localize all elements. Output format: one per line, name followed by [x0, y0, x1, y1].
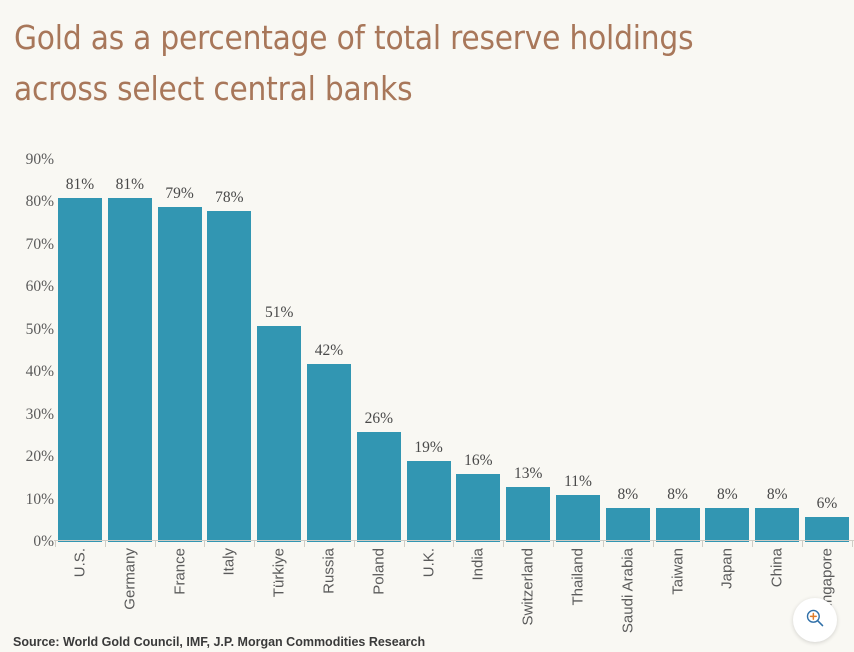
- x-axis-tick-mark: [603, 541, 604, 547]
- x-axis-tick-mark: [453, 541, 454, 547]
- x-axis-category-text: Saudi Arabia: [619, 548, 636, 633]
- bars-layer: 81%81%79%78%51%42%26%19%16%13%11%8%8%8%8…: [57, 160, 854, 542]
- magnify-plus-icon: [804, 607, 826, 634]
- bar[interactable]: [755, 508, 799, 542]
- bar-value-label: 42%: [306, 342, 352, 360]
- x-axis-category-text: France: [171, 548, 188, 595]
- bar[interactable]: [805, 517, 849, 542]
- bar[interactable]: [108, 198, 152, 542]
- bar-value-label: 81%: [107, 176, 153, 194]
- x-axis-tick-mark: [653, 541, 654, 547]
- x-axis-tick-mark: [55, 541, 56, 547]
- bar-slot: 16%: [455, 160, 505, 542]
- bar-value-label: 6%: [804, 495, 850, 513]
- bar-slot: 8%: [605, 160, 655, 542]
- bar-slot: 8%: [655, 160, 705, 542]
- bar[interactable]: [58, 198, 102, 542]
- x-axis-tick-mark: [155, 541, 156, 547]
- x-axis-category-text: Thailand: [570, 548, 587, 606]
- y-axis-tick-label: 90%: [2, 151, 54, 169]
- bar-slot: 51%: [256, 160, 306, 542]
- bar[interactable]: [357, 432, 401, 542]
- x-axis-category-label: U.S.: [57, 548, 103, 638]
- x-axis-tick-mark: [105, 541, 106, 547]
- x-axis-tick-mark: [752, 541, 753, 547]
- x-axis-category-text: India: [470, 548, 487, 581]
- bar[interactable]: [656, 508, 700, 542]
- y-axis-tick-label: 80%: [2, 193, 54, 211]
- source-note: Source: World Gold Council, IMF, J.P. Mo…: [13, 635, 425, 649]
- bar-value-label: 78%: [206, 189, 252, 207]
- x-axis-tick-mark: [503, 541, 504, 547]
- x-axis-category-label: Poland: [356, 548, 402, 638]
- bar-slot: 6%: [804, 160, 854, 542]
- x-axis-category-label: India: [455, 548, 501, 638]
- zoom-button[interactable]: [793, 598, 837, 642]
- x-axis-tick-mark: [404, 541, 405, 547]
- bar-slot: 78%: [206, 160, 256, 542]
- x-axis-tick-mark: [304, 541, 305, 547]
- x-axis-tick-mark: [553, 541, 554, 547]
- x-axis-category-text: U.S.: [72, 548, 89, 577]
- x-axis-tick-mark: [802, 541, 803, 547]
- x-axis-category-label: Germany: [107, 548, 153, 638]
- x-axis-category-label: Russia: [306, 548, 352, 638]
- x-axis-category-label: Italy: [206, 548, 252, 638]
- bar-slot: 42%: [306, 160, 356, 542]
- bar-value-label: 79%: [157, 185, 203, 203]
- x-axis-category-label: Switzerland: [505, 548, 551, 638]
- y-axis-tick-label: 70%: [2, 236, 54, 254]
- bar-value-label: 13%: [505, 465, 551, 483]
- x-axis-category-text: Poland: [370, 548, 387, 595]
- bar-slot: 81%: [107, 160, 157, 542]
- bar-slot: 19%: [406, 160, 456, 542]
- bar-slot: 13%: [505, 160, 555, 542]
- bar[interactable]: [158, 207, 202, 542]
- x-axis-category-label: Japan: [704, 548, 750, 638]
- x-axis-tick-mark: [702, 541, 703, 547]
- x-axis-tick-mark: [354, 541, 355, 547]
- chart-title: Gold as a percentage of total reserve ho…: [14, 12, 824, 114]
- x-axis-category-text: China: [769, 548, 786, 587]
- bar-value-label: 19%: [406, 439, 452, 457]
- bar-value-label: 8%: [655, 486, 701, 504]
- x-axis-category-label: U.K.: [406, 548, 452, 638]
- bar-slot: 8%: [754, 160, 804, 542]
- bar[interactable]: [207, 211, 251, 542]
- bar-value-label: 8%: [754, 486, 800, 504]
- x-axis-category-text: Japan: [719, 548, 736, 589]
- bar-slot: 26%: [356, 160, 406, 542]
- x-axis-category-text: Taiwan: [669, 548, 686, 595]
- x-axis-category-text: U.K.: [420, 548, 437, 577]
- bar[interactable]: [407, 461, 451, 542]
- x-axis-category-label: France: [157, 548, 203, 638]
- bar-slot: 11%: [555, 160, 605, 542]
- y-axis-tick-label: 30%: [2, 406, 54, 424]
- bar-slot: 79%: [157, 160, 207, 542]
- bar-slot: 81%: [57, 160, 107, 542]
- y-axis-tick-label: 10%: [2, 491, 54, 509]
- x-axis-category-text: Germany: [121, 548, 138, 610]
- bar-value-label: 51%: [256, 304, 302, 322]
- y-axis-tick-label: 0%: [2, 533, 54, 551]
- bar-value-label: 11%: [555, 473, 601, 491]
- y-axis: 0%10%20%30%40%50%60%70%80%90%: [0, 160, 54, 542]
- x-axis-category-text: Italy: [221, 548, 238, 576]
- plot-area: 0%10%20%30%40%50%60%70%80%90% 81%81%79%7…: [0, 160, 854, 542]
- y-axis-tick-label: 20%: [2, 448, 54, 466]
- bar[interactable]: [257, 326, 301, 542]
- bar-value-label: 8%: [605, 486, 651, 504]
- bar-value-label: 8%: [704, 486, 750, 504]
- x-axis-labels: U.S.GermanyFranceItalyTürkiyeRussiaPolan…: [57, 548, 854, 640]
- bar-value-label: 26%: [356, 410, 402, 428]
- x-axis-category-label: Saudi Arabia: [605, 548, 651, 638]
- bar[interactable]: [506, 487, 550, 542]
- x-axis-category-label: Thailand: [555, 548, 601, 638]
- x-axis-category-text: Türkiye: [271, 548, 288, 597]
- x-axis-category-text: Russia: [321, 548, 338, 594]
- x-axis-category-text: Switzerland: [520, 548, 537, 626]
- bar-value-label: 81%: [57, 176, 103, 194]
- y-axis-tick-label: 60%: [2, 278, 54, 296]
- x-axis-tick-mark: [204, 541, 205, 547]
- y-axis-tick-label: 40%: [2, 363, 54, 381]
- x-axis-category-label: Türkiye: [256, 548, 302, 638]
- x-axis-tick-mark: [254, 541, 255, 547]
- bar[interactable]: [705, 508, 749, 542]
- y-axis-tick-label: 50%: [2, 321, 54, 339]
- bar[interactable]: [456, 474, 500, 542]
- x-axis-category-label: Taiwan: [655, 548, 701, 638]
- bar[interactable]: [307, 364, 351, 542]
- bar[interactable]: [556, 495, 600, 542]
- bar[interactable]: [606, 508, 650, 542]
- bar-slot: 8%: [704, 160, 754, 542]
- x-axis-tick-mark: [852, 541, 853, 547]
- bar-value-label: 16%: [455, 452, 501, 470]
- chart-card: Gold as a percentage of total reserve ho…: [0, 0, 854, 652]
